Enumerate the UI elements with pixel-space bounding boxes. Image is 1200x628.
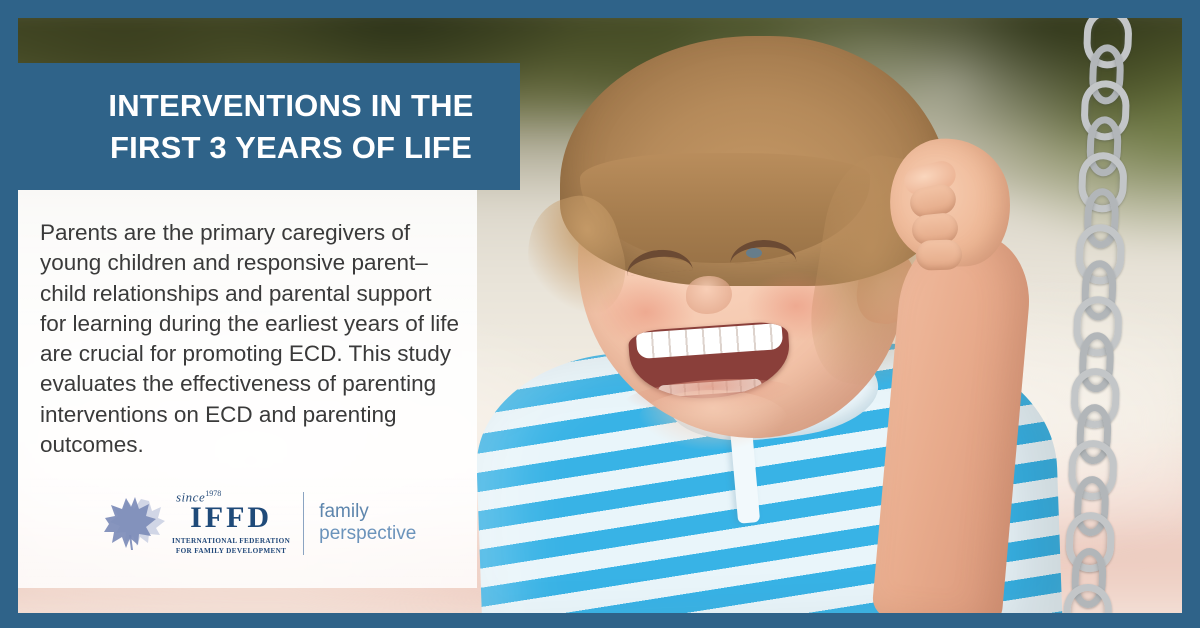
description-panel: Parents are the primary caregivers of yo…	[18, 190, 477, 588]
chin	[638, 390, 788, 450]
iffd-subtitle-line-1: INTERNATIONAL FEDERATION	[172, 536, 290, 546]
logo-divider	[303, 492, 304, 555]
eye-highlight	[746, 248, 762, 258]
iffd-subtitle: INTERNATIONAL FEDERATION FOR FAMILY DEVE…	[172, 536, 290, 557]
swing-chain	[1059, 18, 1125, 613]
family-perspective-tagline: family perspective	[319, 501, 416, 546]
child-subject	[518, 18, 1118, 613]
maple-leaf-icon	[104, 495, 166, 551]
social-card: INTERVENTIONS IN THE FIRST 3 YEARS OF LI…	[0, 0, 1200, 628]
title-banner: INTERVENTIONS IN THE FIRST 3 YEARS OF LI…	[18, 63, 520, 190]
finger	[915, 239, 962, 271]
iffd-logo[interactable]: since1978 IFFD INTERNATIONAL FEDERATION …	[104, 490, 416, 557]
iffd-subtitle-line-2: FOR FAMILY DEVELOPMENT	[172, 546, 290, 556]
iffd-acronym: IFFD	[190, 504, 272, 533]
page-title: INTERVENTIONS IN THE FIRST 3 YEARS OF LI…	[18, 85, 520, 168]
since-year: 1978	[205, 489, 221, 498]
tagline-line-1: family	[319, 501, 416, 523]
description-text: Parents are the primary caregivers of yo…	[18, 190, 477, 460]
tagline-line-2: perspective	[319, 523, 416, 545]
iffd-wordmark: since1978 IFFD INTERNATIONAL FEDERATION …	[172, 490, 290, 557]
